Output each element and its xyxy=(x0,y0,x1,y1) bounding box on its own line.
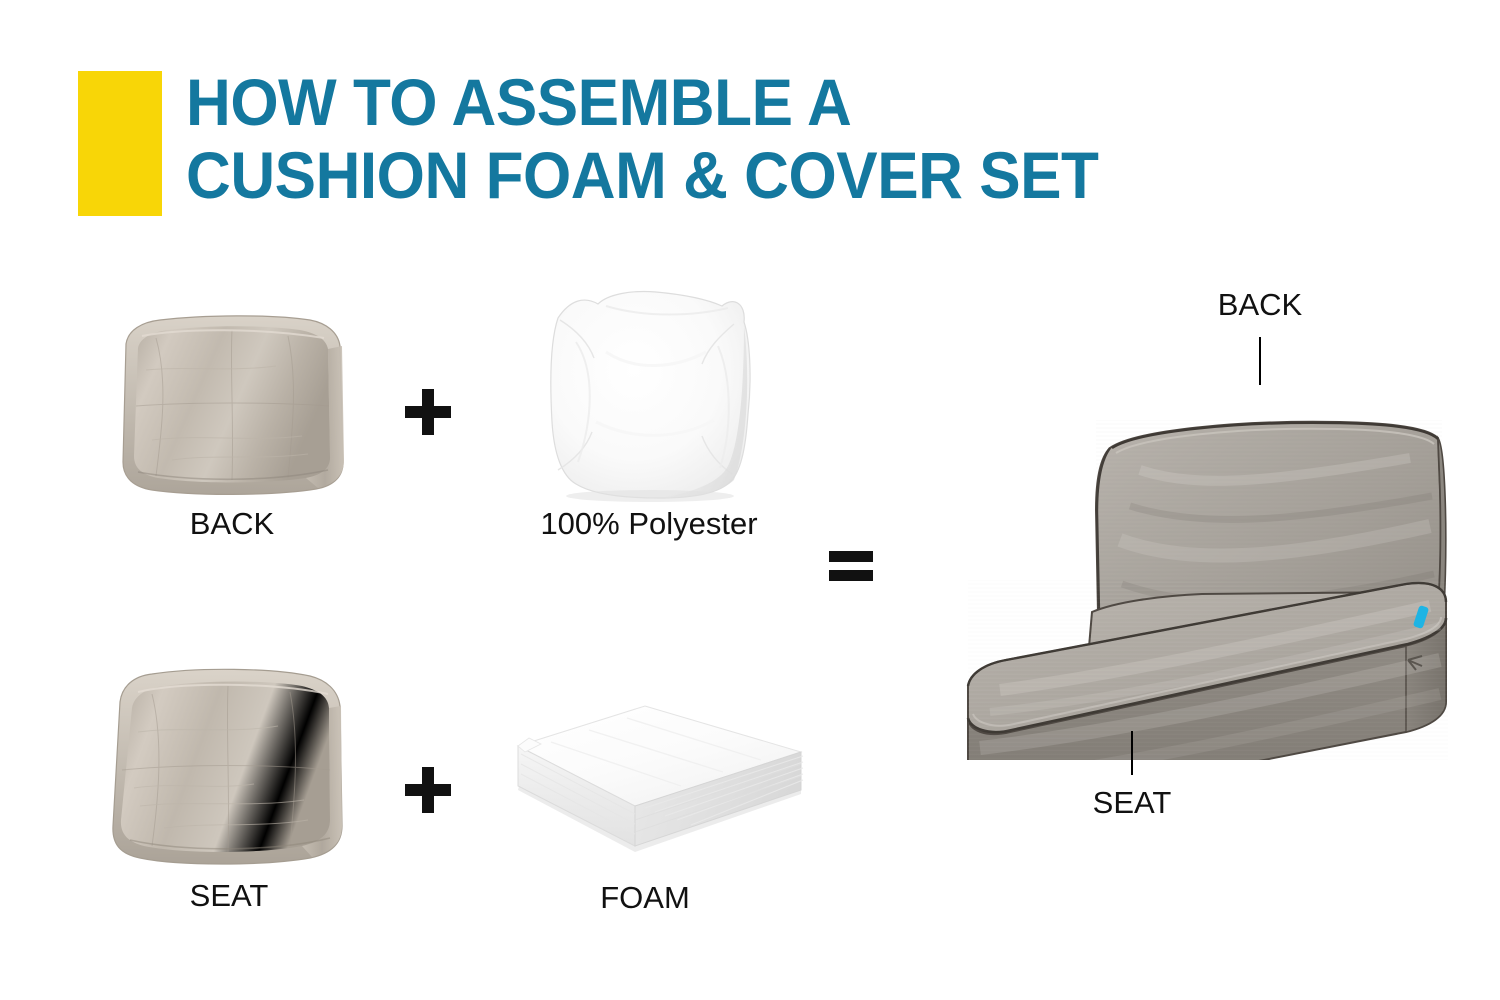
cushion-cover-seat-image xyxy=(104,662,354,874)
seat-cushion-body xyxy=(968,580,1450,760)
plus-operator-row-2 xyxy=(405,767,451,813)
label-result-seat: SEAT xyxy=(1012,785,1252,821)
plus-vertical-bar xyxy=(422,767,434,813)
polyester-pillow-insert-image xyxy=(536,282,762,506)
caption-foam: FOAM xyxy=(520,880,770,916)
page-title: HOW TO ASSEMBLE A CUSHION FOAM & COVER S… xyxy=(186,66,1314,212)
page-title-line-2: CUSHION FOAM & COVER SET xyxy=(186,139,1314,212)
caption-back-cover: BACK xyxy=(112,506,352,542)
page-title-line-1: HOW TO ASSEMBLE A xyxy=(186,66,1314,139)
caption-seat-cover: SEAT xyxy=(104,878,354,914)
infographic-canvas: HOW TO ASSEMBLE A CUSHION FOAM & COVER S… xyxy=(0,0,1500,1000)
equals-bottom-bar xyxy=(829,570,873,581)
plus-operator-row-1 xyxy=(405,389,451,435)
foam-slab-image xyxy=(485,694,815,864)
header-accent-bar xyxy=(78,71,162,216)
cushion-cover-back-image xyxy=(112,310,352,500)
label-result-back: BACK xyxy=(1140,287,1380,323)
plus-vertical-bar xyxy=(422,389,434,435)
caption-polyester-insert: 100% Polyester xyxy=(476,506,822,542)
leader-line-back xyxy=(1259,337,1261,385)
equals-top-bar xyxy=(829,551,873,562)
equals-operator xyxy=(829,551,873,581)
assembled-cushion-set-image xyxy=(940,330,1450,760)
leader-line-seat xyxy=(1131,731,1133,775)
